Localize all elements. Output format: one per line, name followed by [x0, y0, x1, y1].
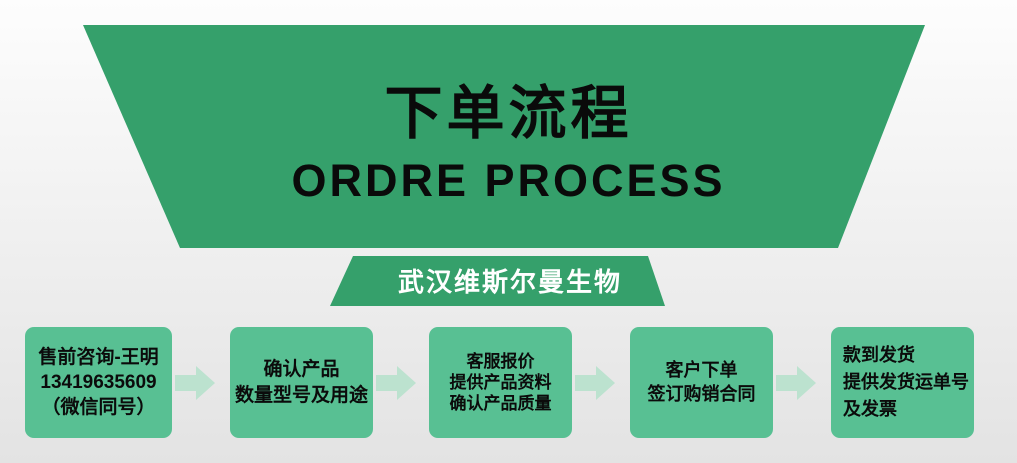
process-step-customer-service-quote[interactable]: 客服报价 提供产品资料 确认产品质量	[429, 327, 572, 438]
step-line: 售前咨询-王明	[38, 345, 158, 370]
step-line: 提供产品资料	[450, 372, 552, 393]
step-line: 13419635609	[40, 370, 156, 395]
arrow-right-icon-4	[773, 366, 819, 400]
process-step-customer-place-order[interactable]: 客户下单 签订购销合同	[630, 327, 773, 438]
step-line: 签订购销合同	[648, 383, 756, 406]
order-process-banner: 下单流程 ORDRE PROCESS 武汉维斯尔曼生物 售前咨询-王明 1341…	[0, 0, 1017, 463]
step-line: 及发票	[843, 396, 897, 423]
step-line: 数量型号及用途	[235, 383, 368, 408]
process-step-pre-sales-consultation[interactable]: 售前咨询-王明 13419635609 （微信同号）	[25, 327, 172, 438]
process-step-confirm-product[interactable]: 确认产品 数量型号及用途	[230, 327, 373, 438]
step-line: 款到发货	[843, 342, 915, 369]
step-line: 客户下单	[666, 359, 738, 382]
header-trapezoid	[0, 0, 1017, 260]
arrow-right-icon-1	[172, 366, 218, 400]
process-flow: 售前咨询-王明 13419635609 （微信同号） 确认产品 数量型号及用途 …	[0, 320, 1017, 445]
step-line: 确认产品	[263, 357, 339, 382]
arrow-right-icon-2	[373, 366, 419, 400]
company-banner-shape	[310, 252, 710, 308]
step-line: 提供发货运单号	[843, 369, 969, 396]
step-line: （微信同号）	[41, 395, 155, 420]
step-line: 客服报价	[467, 351, 535, 372]
process-step-payment-and-shipping[interactable]: 款到发货 提供发货运单号 及发票	[831, 327, 974, 438]
arrow-right-icon-3	[572, 366, 618, 400]
step-line: 确认产品质量	[450, 393, 552, 414]
